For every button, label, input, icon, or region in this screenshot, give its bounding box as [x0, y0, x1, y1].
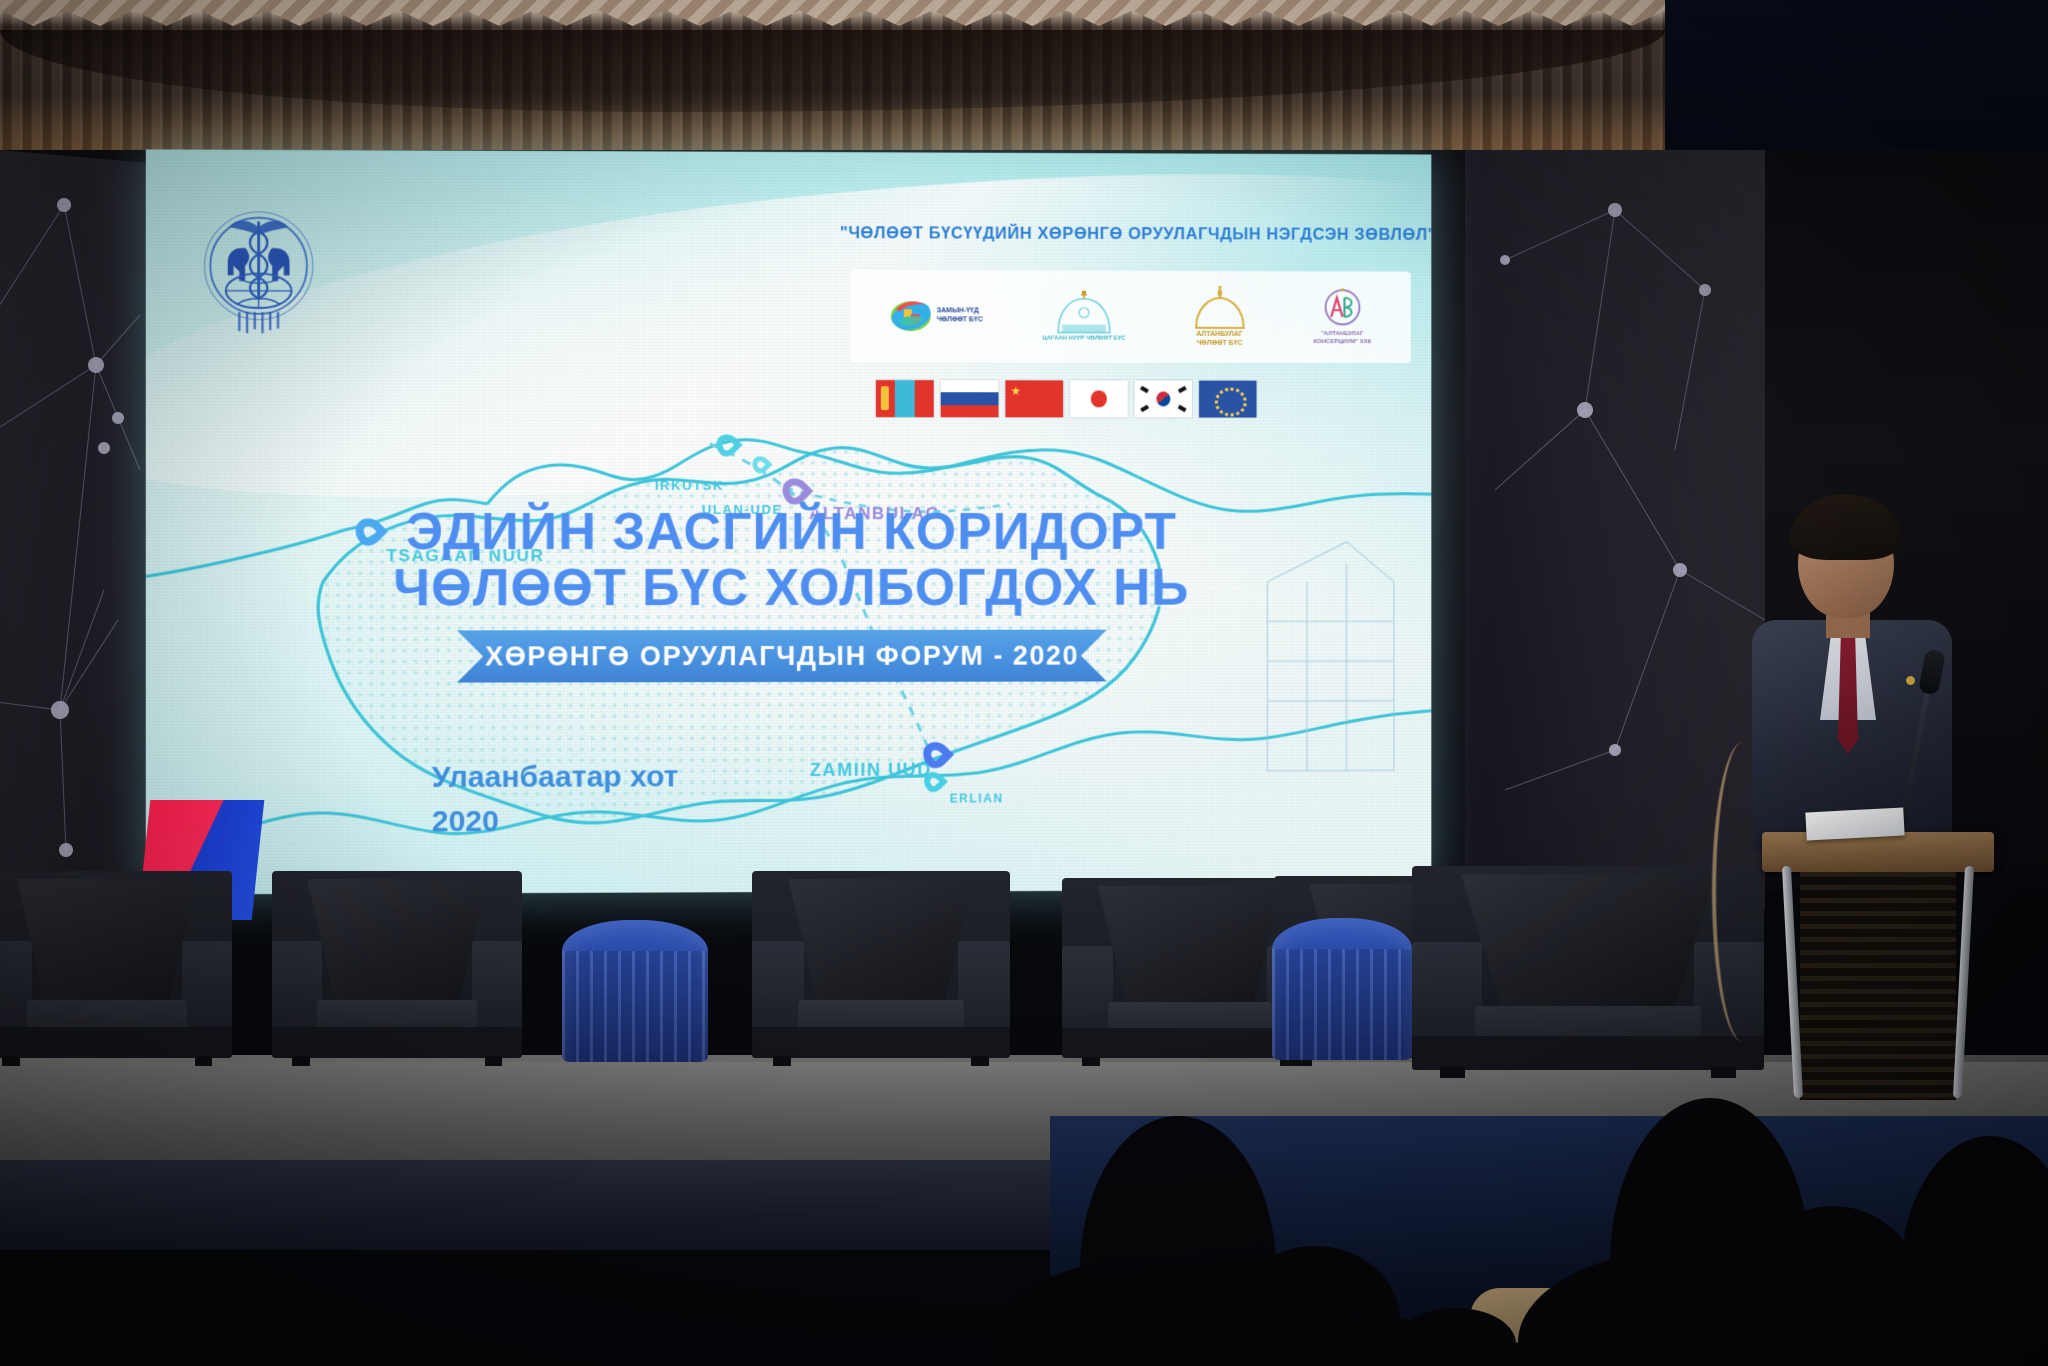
- cocktail-table-1: [562, 920, 708, 1062]
- logo-consortium-label: "АЛТАНБУЛАГ КОНСЕРЦИУМ" ХХК: [1313, 331, 1371, 346]
- ministry-emblem-icon: [190, 206, 327, 337]
- speech-papers: [1805, 807, 1904, 840]
- logo-tsagaan-nuur-free-zone: ЦАГААН НУУР ЧӨЛӨӨТ БҮС: [1042, 290, 1125, 343]
- map-label-irkutsk: IRKUTSK: [655, 478, 724, 493]
- ceiling-right-dark: [1665, 0, 2048, 168]
- zamiin-uud-globe-icon: [890, 295, 932, 337]
- map-label-zamiin-uud: ZAMIIN UUD: [810, 760, 932, 781]
- year-label: 2020: [432, 805, 499, 839]
- network-graphic-left: [0, 150, 170, 895]
- council-title: "ЧӨЛӨӨТ БҮСҮҮДИЙН ХӨРӨНГӨ ОРУУЛАГЧДЫН НЭ…: [840, 224, 1396, 245]
- logo-zamiin-uud-free-zone: ЗАМЫН-ҮҮД ЧӨЛӨӨТ БҮС: [890, 295, 983, 337]
- emblem-svg: [190, 206, 327, 337]
- japan-flag: [1070, 380, 1128, 417]
- cocktail-table-2: [1272, 918, 1412, 1060]
- armchair-1: [0, 871, 232, 1066]
- forum-ribbon-banner: ХӨРӨНГӨ ОРУУЛАГЧДЫН ФОРУМ - 2020: [457, 630, 1107, 683]
- network-pattern-panel-left: [0, 150, 170, 895]
- altanbulag-dome-icon: [1185, 286, 1254, 330]
- podium: [1762, 832, 1994, 1100]
- tsagaan-nuur-dome-icon: [1045, 290, 1122, 334]
- european-union-flag: [1199, 381, 1256, 418]
- conference-stage-photo: "ЧӨЛӨӨТ БҮСҮҮДИЙН ХӨРӨНГӨ ОРУУЛАГЧДЫН НЭ…: [0, 0, 2048, 1366]
- lapel-pin-icon: [1906, 676, 1915, 685]
- logo-tsagaan-nuur-label: ЦАГААН НУУР ЧӨЛӨӨТ БҮС: [1042, 335, 1125, 343]
- city-label: Улаанбаатар хот: [432, 760, 679, 795]
- logo-altanbulag-consortium: "АЛТАНБУЛАГ КОНСЕРЦИУМ" ХХК: [1313, 288, 1371, 346]
- logo-altanbulag-label: АЛТАНБУЛАГ ЧӨЛӨӨТ БҮС: [1196, 331, 1242, 349]
- logo-zamiin-uud-label: ЗАМЫН-ҮҮД ЧӨЛӨӨТ БҮС: [937, 308, 983, 326]
- audience-foreground: [0, 1076, 2048, 1366]
- headline-line-1: ЭДИЙН ЗАСГИЙН КОРИДОРТ: [146, 504, 1432, 561]
- mongolia-flag: [876, 380, 934, 417]
- stage-cable-glow: [1712, 742, 1774, 1042]
- armchair-2: [272, 871, 522, 1066]
- map-label-erlian: ERLIAN: [950, 791, 1004, 805]
- projection-screen: "ЧӨЛӨӨТ БҮСҮҮДИЙН ХӨРӨНГӨ ОРУУЛАГЧДЫН НЭ…: [146, 149, 1432, 894]
- country-flags-row: [876, 380, 1257, 417]
- south-korea-flag: [1135, 381, 1193, 418]
- speaker-red-tie: [1838, 636, 1858, 754]
- logo-altanbulag-free-zone: АЛТАНБУЛАГ ЧӨЛӨӨТ БҮС: [1185, 286, 1254, 348]
- partner-logo-strip: ЗАМЫН-ҮҮД ЧӨЛӨӨТ БҮС ЦАГААН НУУР ЧӨЛӨӨТ …: [850, 270, 1411, 363]
- speaker-at-podium: [1746, 480, 2048, 1100]
- headline-block: ЭДИЙН ЗАСГИЙН КОРИДОРТ ЧӨЛӨӨТ БҮС ХОЛБОГ…: [146, 504, 1432, 617]
- consortium-circle-icon: [1322, 288, 1363, 330]
- armchair-3: [752, 871, 1010, 1066]
- speaker-hair: [1790, 494, 1902, 560]
- china-flag: [1005, 380, 1063, 417]
- headline-line-2: ЧӨЛӨӨТ БҮС ХОЛБОГДОХ НЬ: [146, 560, 1432, 617]
- pleated-ceiling-curtain: [0, 0, 1665, 168]
- russia-flag: [941, 380, 999, 417]
